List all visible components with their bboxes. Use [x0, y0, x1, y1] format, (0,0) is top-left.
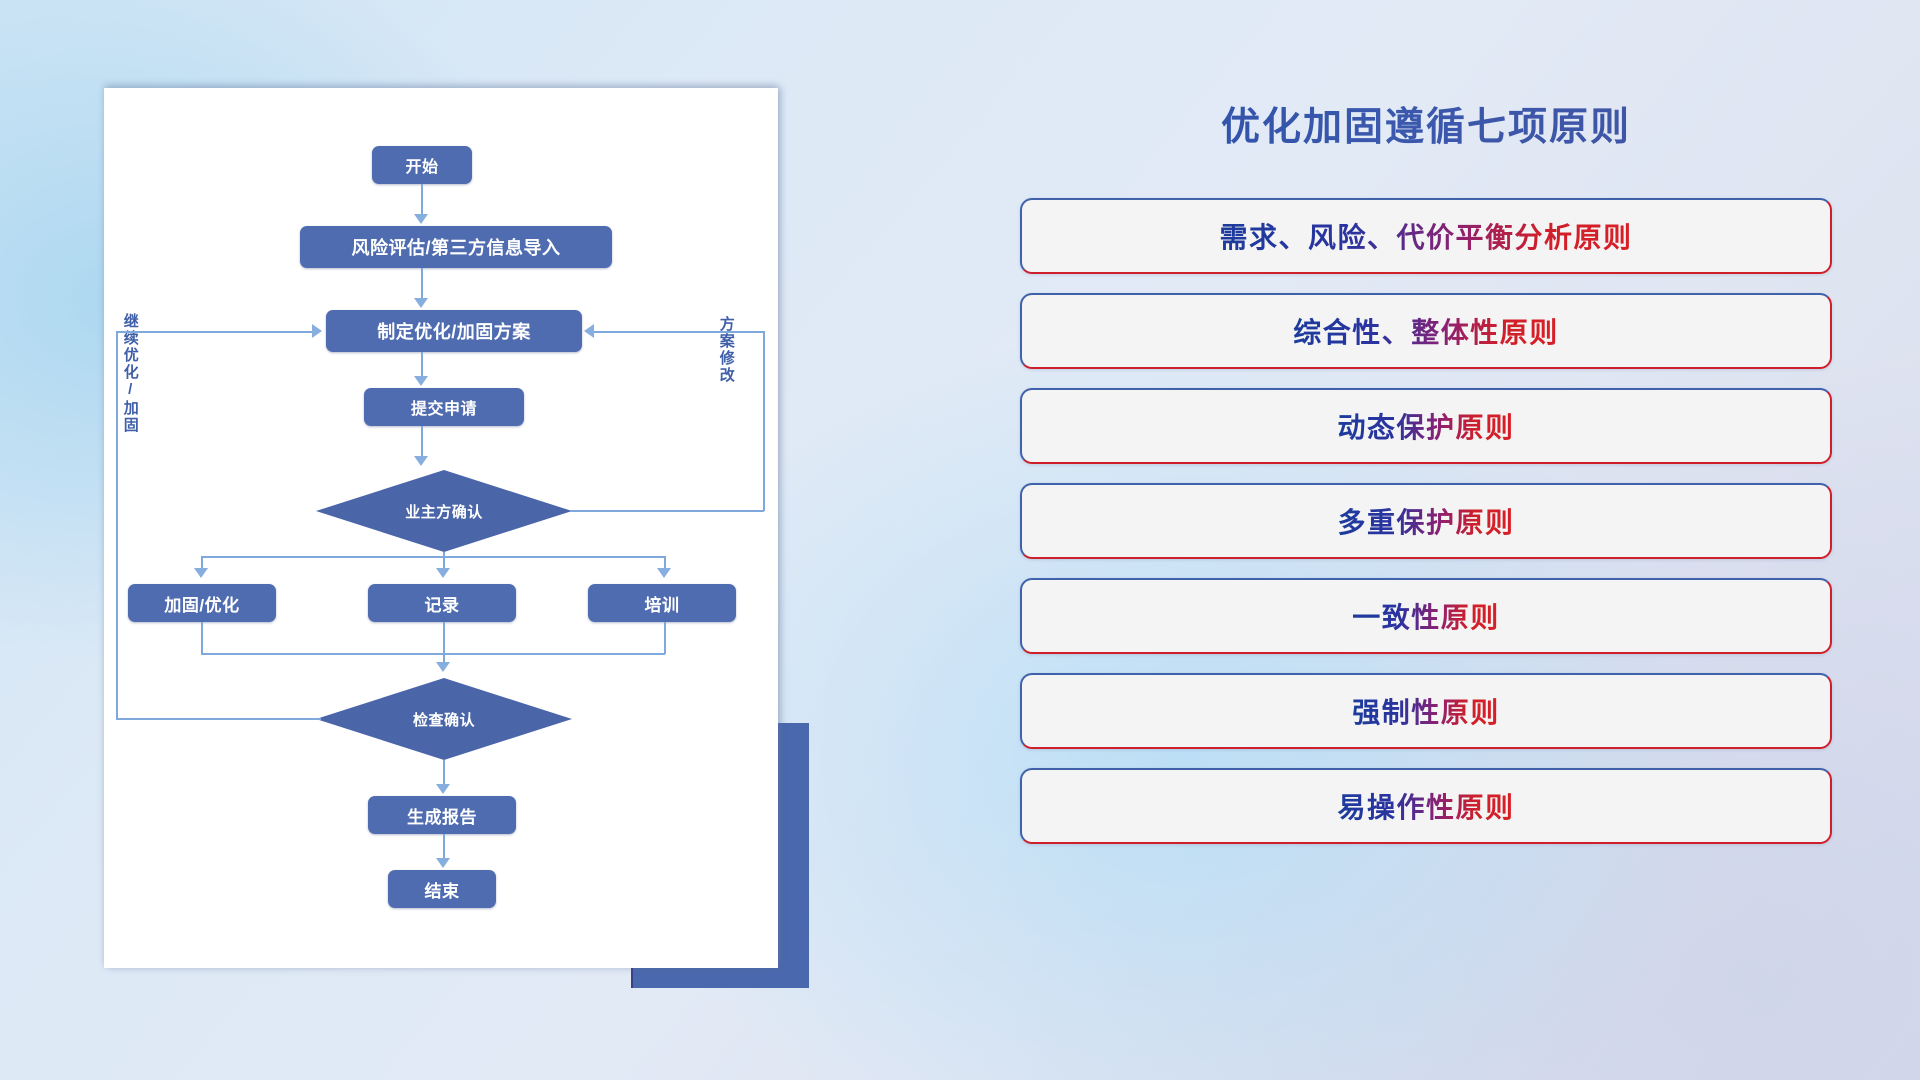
decision-check-confirm[interactable]: 检查确认 [316, 678, 572, 760]
principle-item-5[interactable]: 一致性原则 [1020, 578, 1832, 654]
connector-merge-bus [201, 653, 665, 655]
decision-owner-confirm[interactable]: 业主方确认 [316, 470, 572, 552]
edge-label-plan-revision: 方案修改 [718, 316, 734, 384]
connector-loop-left [116, 331, 118, 719]
flowchart-card: 继续优化/加固 方案修改 开始 风险评估/第三方信息导入 制定优化/加固方案 提… [104, 88, 778, 968]
principle-item-2[interactable]: 综合性、整体性原则 [1020, 293, 1832, 369]
connector-loop-bottom [116, 718, 321, 720]
principle-label: 综合性、整体性原则 [1293, 311, 1559, 351]
connector-reinforce-down [201, 622, 203, 654]
node-submit[interactable]: 提交申请 [364, 388, 524, 426]
slide-canvas: 继续优化/加固 方案修改 开始 风险评估/第三方信息导入 制定优化/加固方案 提… [0, 0, 1920, 1080]
principle-label: 动态保护原则 [1337, 406, 1514, 446]
flowchart-region: 继续优化/加固 方案修改 开始 风险评估/第三方信息导入 制定优化/加固方案 提… [104, 88, 804, 978]
connector-revision-bottom [570, 510, 764, 512]
node-end[interactable]: 结束 [388, 870, 496, 908]
arrow-to-record [436, 568, 450, 578]
principle-label: 易操作性原则 [1337, 786, 1514, 826]
connector-submit-to-owner [421, 426, 423, 458]
node-plan[interactable]: 制定优化/加固方案 [326, 310, 582, 352]
connector-risk-to-plan [421, 268, 423, 300]
connector-report-to-end [443, 834, 445, 860]
connector-loop-top [116, 331, 314, 333]
arrow-to-reinforce [194, 568, 208, 578]
principle-label: 多重保护原则 [1337, 501, 1514, 541]
connector-revision-top [592, 331, 764, 333]
arrow-report-to-end [436, 858, 450, 868]
principle-label: 强制性原则 [1352, 691, 1500, 731]
connector-plan-to-submit [421, 352, 423, 378]
arrow-revision-into-plan [584, 324, 594, 338]
arrow-submit-to-owner [414, 456, 428, 466]
connector-revision-right [763, 331, 765, 511]
principle-item-7[interactable]: 易操作性原则 [1020, 768, 1832, 844]
arrow-start-to-risk [414, 214, 428, 224]
connector-training-down [664, 622, 666, 654]
node-training[interactable]: 培训 [588, 584, 736, 622]
principle-label: 需求、风险、代价平衡分析原则 [1219, 216, 1632, 256]
arrow-loop-into-plan [312, 324, 322, 338]
node-risk-assessment[interactable]: 风险评估/第三方信息导入 [300, 226, 612, 268]
principle-item-6[interactable]: 强制性原则 [1020, 673, 1832, 749]
arrow-risk-to-plan [414, 298, 428, 308]
connector-branch-bus [201, 556, 665, 558]
arrow-plan-to-submit [414, 376, 428, 386]
connector-record-down [443, 622, 445, 666]
principles-panel: 优化加固遵循七项原则 需求、风险、代价平衡分析原则 综合性、整体性原则 动态保护… [1020, 96, 1832, 996]
connector-start-to-risk [421, 184, 423, 216]
principle-label: 一致性原则 [1352, 596, 1500, 636]
connector-check-to-report [443, 760, 445, 786]
principle-item-1[interactable]: 需求、风险、代价平衡分析原则 [1020, 198, 1832, 274]
page-title: 优化加固遵循七项原则 [1020, 96, 1832, 152]
arrow-check-to-report [436, 784, 450, 794]
principle-item-4[interactable]: 多重保护原则 [1020, 483, 1832, 559]
node-record[interactable]: 记录 [368, 584, 516, 622]
arrow-to-training [657, 568, 671, 578]
principle-item-3[interactable]: 动态保护原则 [1020, 388, 1832, 464]
node-start[interactable]: 开始 [372, 146, 472, 184]
arrow-to-check-confirm [436, 662, 450, 672]
node-reinforce[interactable]: 加固/优化 [128, 584, 276, 622]
node-report[interactable]: 生成报告 [368, 796, 516, 834]
